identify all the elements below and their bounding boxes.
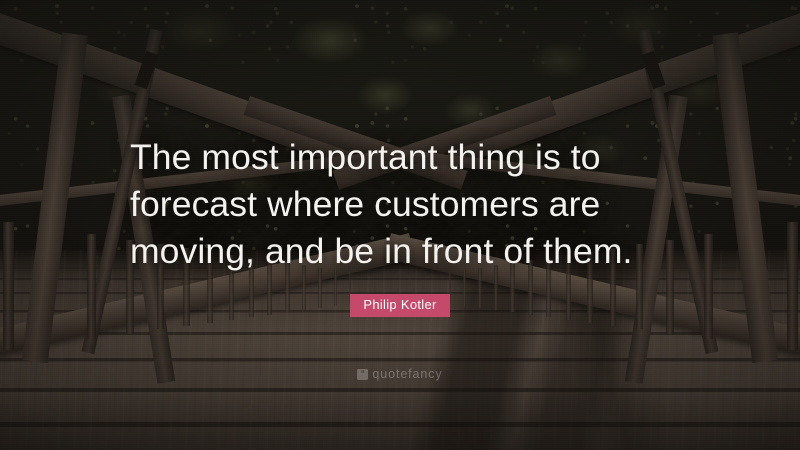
quote-line-2: forecast where customers are bbox=[130, 181, 670, 228]
quotefancy-logo-icon: “ bbox=[357, 369, 368, 380]
author-attribution: Philip Kotler bbox=[0, 294, 800, 317]
quote-line-3: moving, and be in front of them. bbox=[130, 228, 670, 275]
quote-text-block: The most important thing is to forecast … bbox=[0, 134, 800, 275]
text-overlay: The most important thing is to forecast … bbox=[0, 0, 800, 450]
quote-card: The most important thing is to forecast … bbox=[0, 0, 800, 450]
watermark-label: quotefancy bbox=[372, 367, 442, 381]
author-name-badge[interactable]: Philip Kotler bbox=[350, 294, 449, 317]
quote-line-1: The most important thing is to bbox=[130, 134, 670, 181]
quotefancy-watermark[interactable]: “ quotefancy bbox=[0, 367, 800, 381]
